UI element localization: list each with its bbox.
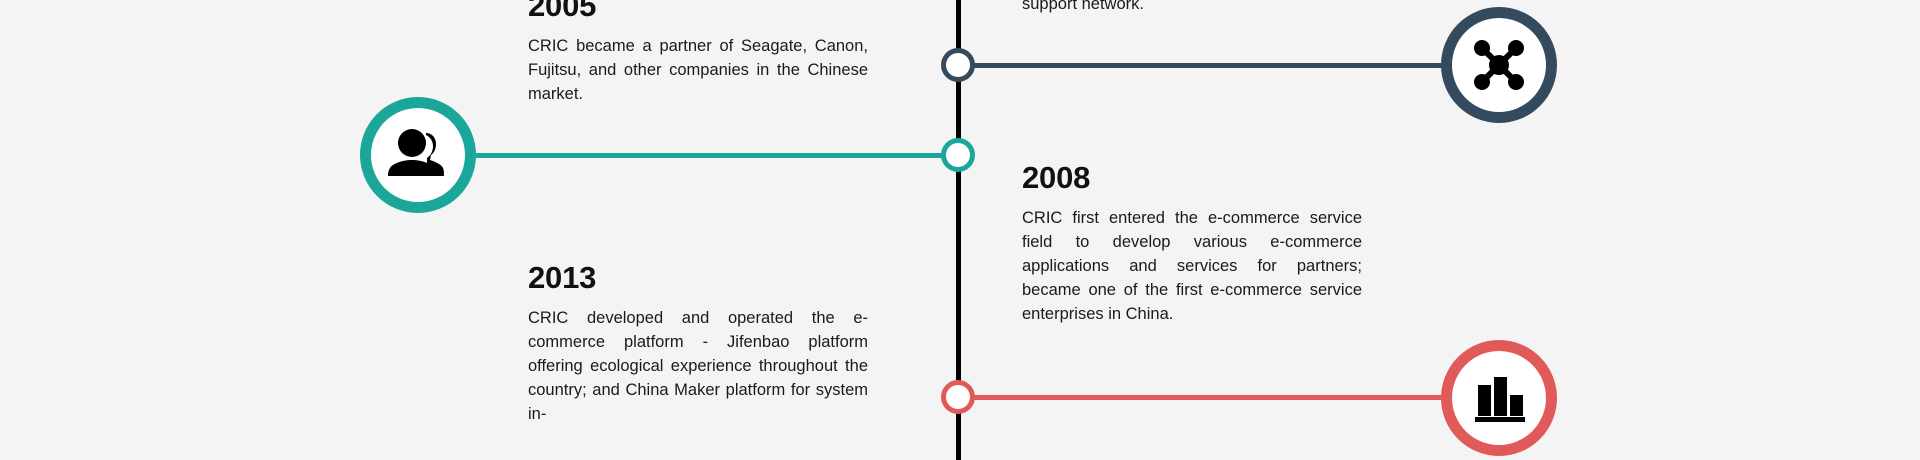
entry-year-2013: 2013 [528,262,868,293]
connector-rail-navy [972,63,1442,68]
timeline-entry-2013: 2013 CRIC developed and operated the e-c… [528,262,868,426]
timeline-node-teal[interactable] [941,138,975,172]
entry-body-2005: CRIC became a partner of Seagate, Canon,… [528,34,868,106]
people-icon[interactable] [360,97,476,213]
connector-rail-teal [476,153,944,158]
timeline-entry-partial: acquisition network and national retail … [1022,0,1362,16]
entry-body-2008: CRIC first entered the e-commerce ser­vi… [1022,206,1362,326]
entry-year-2008: 2008 [1022,162,1362,193]
timeline-node-red[interactable] [941,380,975,414]
timeline-entry-2008: 2008 CRIC first entered the e-commerce s… [1022,162,1362,326]
timeline-node-navy[interactable] [941,48,975,82]
bar-chart-icon[interactable] [1441,340,1557,456]
entry-year-2005: 2005 [528,0,868,21]
timeline-entry-2005: 2005 CRIC became a partner of Seagate, C… [528,0,868,106]
connector-rail-red [972,395,1442,400]
entry-partial-body: acquisition network and national retail … [1022,0,1362,16]
entry-body-2013: CRIC developed and operated the e-commer… [528,306,868,426]
network-icon[interactable] [1441,7,1557,123]
timeline-infographic: acquisition network and national retail … [0,0,1920,460]
entry-partial-last-line: minal support network. [1022,0,1362,13]
